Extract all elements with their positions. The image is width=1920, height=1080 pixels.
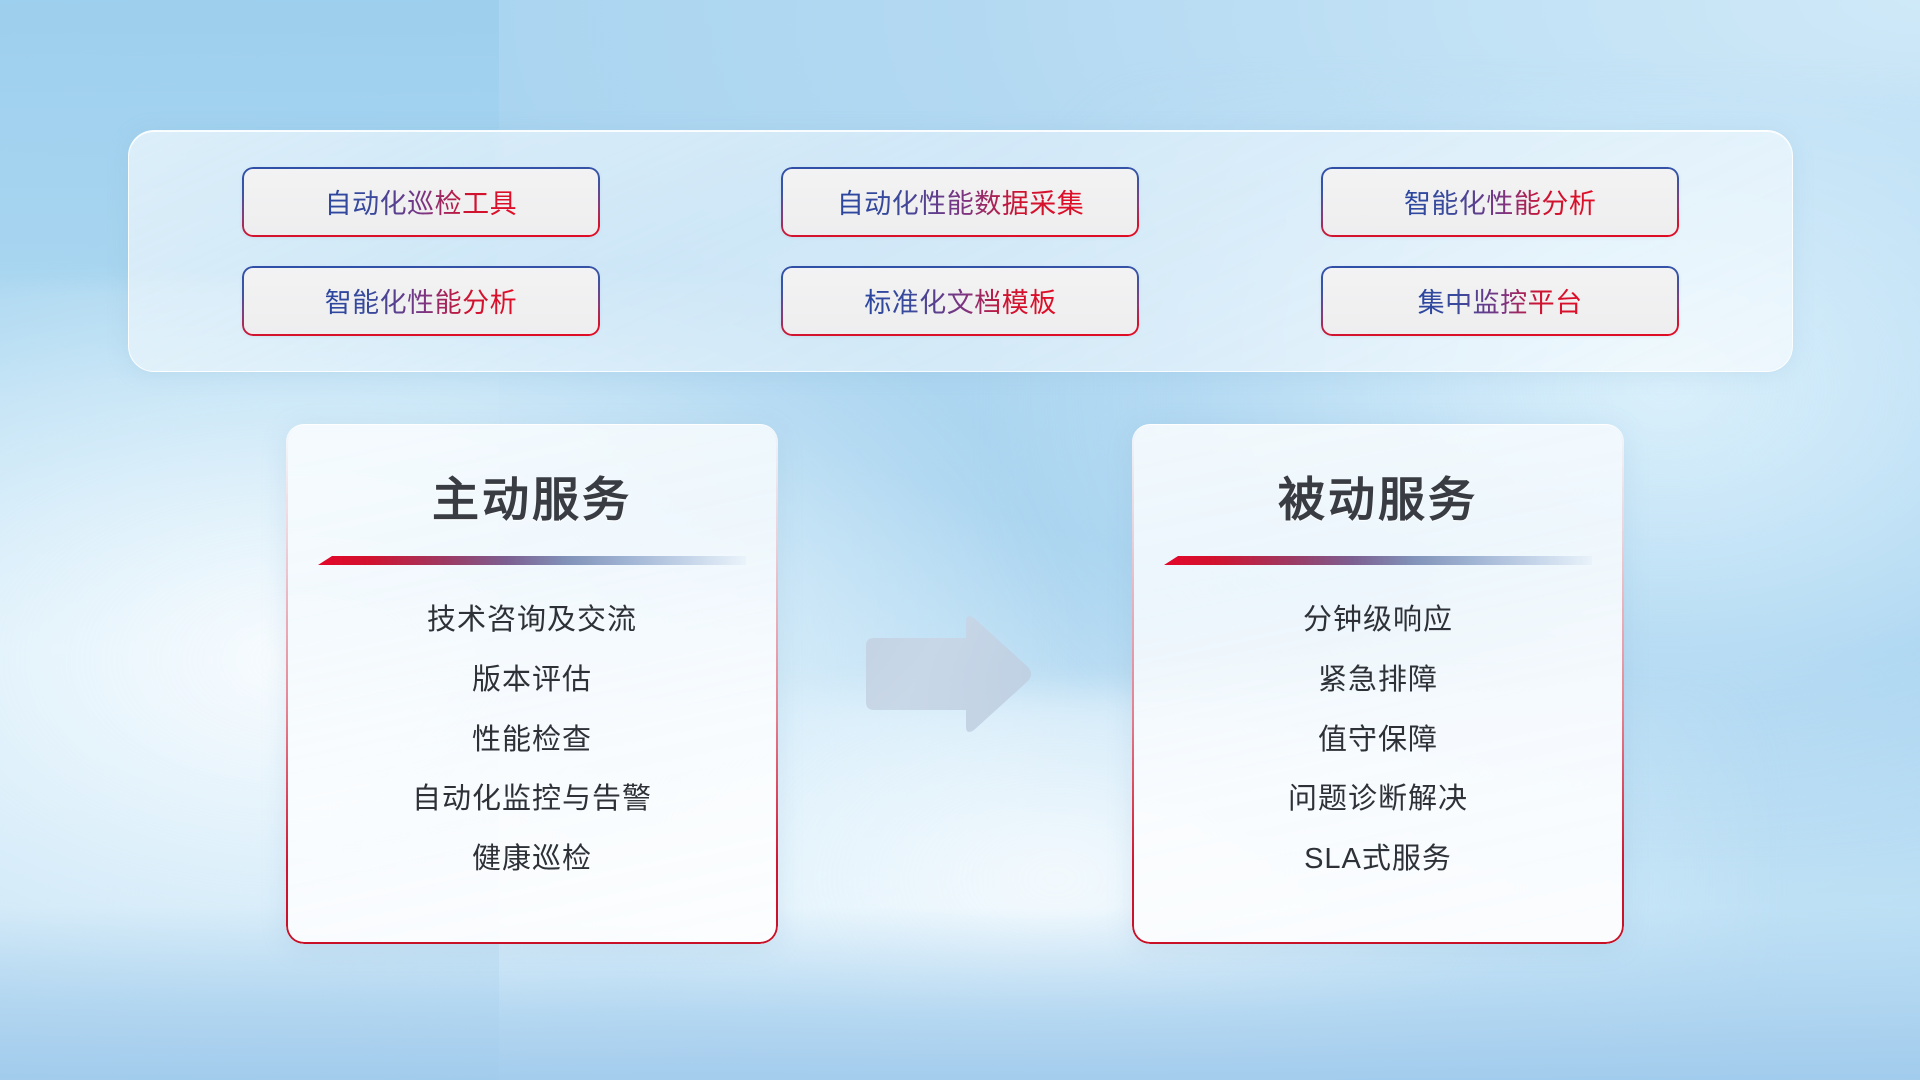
list-item: SLA式服务 bbox=[1304, 842, 1452, 877]
list-item: 自动化监控与告警 bbox=[412, 782, 652, 817]
list-item: 值守保障 bbox=[1318, 723, 1438, 758]
capability-tag-grid: 自动化巡检工具 自动化性能数据采集 智能化性能分析 智能化性能分析 标准化文档模… bbox=[189, 163, 1732, 339]
list-item: 紧急排障 bbox=[1318, 663, 1438, 698]
list-item: 性能检查 bbox=[472, 723, 592, 758]
service-card-reactive[interactable]: 被动服务 分钟级响应 紧急排障 值守保障 问题诊断解决 SLA式服务 bbox=[1132, 424, 1624, 944]
card-title-divider bbox=[318, 556, 746, 565]
capability-tag-label: 集中监控平台 bbox=[1418, 281, 1583, 320]
capability-tag-6[interactable]: 集中监控平台 bbox=[1321, 266, 1679, 336]
service-card-proactive[interactable]: 主动服务 技术咨询及交流 版本评估 性能检查 自动化监控与告警 健康巡检 bbox=[286, 424, 778, 944]
capability-tag-label: 智能化性能分析 bbox=[1404, 182, 1597, 221]
capability-tag-4[interactable]: 智能化性能分析 bbox=[242, 266, 600, 336]
capability-tag-3[interactable]: 智能化性能分析 bbox=[1321, 167, 1679, 237]
card-title-divider bbox=[1164, 556, 1592, 565]
list-item: 分钟级响应 bbox=[1303, 603, 1453, 638]
arrow-right-icon bbox=[862, 613, 1034, 735]
list-item: 版本评估 bbox=[472, 663, 592, 698]
capability-tag-1[interactable]: 自动化巡检工具 bbox=[242, 167, 600, 237]
card-service-list: 分钟级响应 紧急排障 值守保障 问题诊断解决 SLA式服务 bbox=[1132, 603, 1624, 877]
capability-tag-label: 自动化巡检工具 bbox=[325, 182, 518, 221]
capability-tag-label: 标准化文档模板 bbox=[864, 281, 1057, 320]
card-title: 主动服务 bbox=[286, 461, 778, 530]
capability-tag-label: 自动化性能数据采集 bbox=[837, 182, 1085, 221]
list-item: 技术咨询及交流 bbox=[427, 603, 637, 638]
capability-tag-2[interactable]: 自动化性能数据采集 bbox=[781, 167, 1139, 237]
capability-tag-5[interactable]: 标准化文档模板 bbox=[781, 266, 1139, 336]
card-service-list: 技术咨询及交流 版本评估 性能检查 自动化监控与告警 健康巡检 bbox=[286, 603, 778, 877]
list-item: 问题诊断解决 bbox=[1288, 782, 1468, 817]
card-title: 被动服务 bbox=[1132, 461, 1624, 530]
capability-tag-label: 智能化性能分析 bbox=[325, 281, 518, 320]
capability-panel: 自动化巡检工具 自动化性能数据采集 智能化性能分析 智能化性能分析 标准化文档模… bbox=[128, 130, 1793, 372]
list-item: 健康巡检 bbox=[472, 842, 592, 877]
